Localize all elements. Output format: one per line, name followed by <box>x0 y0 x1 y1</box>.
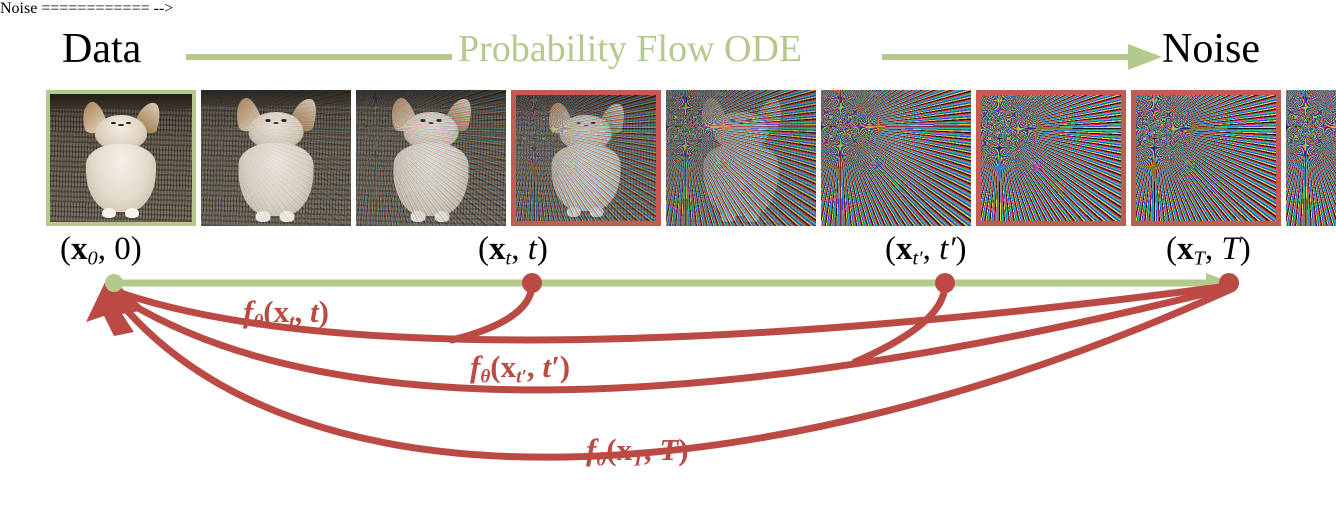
function-label-xt: fθ(xt, t) <box>243 296 329 332</box>
noise-title: Noise <box>1162 28 1260 70</box>
theta-subscript: θ <box>480 366 490 387</box>
frame-2[interactable] <box>201 90 351 226</box>
x-subscript: t′ <box>516 366 527 387</box>
paren-open: ( <box>885 231 896 267</box>
pair-label-xt: (xt, t) <box>478 233 548 269</box>
node-xt[interactable] <box>522 273 542 293</box>
frame-9 <box>1286 90 1336 226</box>
f-symbol: f <box>243 294 253 329</box>
paren-open: ( <box>1166 231 1177 267</box>
probability-flow-ode-label: Probability Flow ODE <box>458 30 802 68</box>
paren-close: ) <box>956 231 967 267</box>
frame-xtp[interactable] <box>976 90 1126 226</box>
frame-xt[interactable] <box>511 90 661 226</box>
comma: , <box>923 231 940 267</box>
frame-image <box>1136 95 1276 221</box>
x-symbol: x <box>71 231 88 267</box>
node-x0[interactable] <box>105 274 123 292</box>
comma: , <box>527 349 543 384</box>
comma: , <box>644 432 660 467</box>
curve-hook-xt <box>452 284 532 340</box>
function-label-xtp: fθ(xt′, t′) <box>470 351 570 387</box>
frame-x0[interactable] <box>46 90 196 226</box>
time-value: t <box>310 294 319 329</box>
paren-close: ) <box>131 231 142 267</box>
diffusion-filmstrip <box>46 90 1290 226</box>
data-title: Data <box>62 28 141 70</box>
frame-image <box>666 90 816 226</box>
paren-close: ) <box>560 349 570 384</box>
comma: , <box>294 294 310 329</box>
x-symbol: x <box>274 294 290 329</box>
pair-label-x0: (x0, 0) <box>60 233 142 269</box>
frame-3[interactable] <box>356 90 506 226</box>
paren-open: ( <box>606 432 616 467</box>
frame-image <box>516 95 656 221</box>
consistency-map-diagram <box>0 270 1336 506</box>
node-xtp[interactable] <box>935 273 955 293</box>
x-subscript: 0 <box>88 248 98 270</box>
paren-close: ) <box>537 231 548 267</box>
time-value: t′ <box>542 349 559 384</box>
comma: , <box>511 231 528 267</box>
x-symbol: x <box>896 231 913 267</box>
figure-canvas: Noise ============ --> Data Probability … <box>0 0 1336 506</box>
x-subscript: T <box>1194 248 1205 270</box>
paren-open: ( <box>263 294 273 329</box>
time-value: T <box>1221 231 1239 267</box>
comma: , <box>98 231 115 267</box>
frame-image <box>50 94 192 222</box>
time-value: 0 <box>114 231 131 267</box>
time-value: t <box>528 231 537 267</box>
frame-image <box>981 95 1121 221</box>
time-value: T <box>659 432 678 467</box>
theta-subscript: θ <box>253 311 263 332</box>
paren-open: ( <box>478 231 489 267</box>
frame-6[interactable] <box>821 90 971 226</box>
frame-xT[interactable] <box>1131 90 1281 226</box>
frame-image <box>201 90 351 226</box>
paren-open: ( <box>60 231 71 267</box>
x-subscript: T <box>632 449 644 470</box>
frame-image <box>821 90 971 226</box>
function-label-xT: fθ(xT, T) <box>586 434 689 470</box>
pair-label-xtp: (xt′, t′) <box>885 233 967 269</box>
x-symbol: x <box>501 349 517 384</box>
f-symbol: f <box>586 432 596 467</box>
time-value: t′ <box>939 231 955 267</box>
theta-subscript: θ <box>596 449 606 470</box>
frame-5[interactable] <box>666 90 816 226</box>
paren-close: ) <box>319 294 329 329</box>
frame-image <box>356 90 506 226</box>
x-symbol: x <box>617 432 633 467</box>
frame-image <box>1286 90 1336 226</box>
x-subscript: t′ <box>913 248 923 270</box>
paren-close: ) <box>1240 231 1251 267</box>
x-symbol: x <box>1177 231 1194 267</box>
pair-label-xT: (xT, T) <box>1166 233 1251 269</box>
flow-arrowhead-icon <box>1128 44 1162 70</box>
paren-close: ) <box>678 432 688 467</box>
comma: , <box>1205 231 1222 267</box>
f-symbol: f <box>470 349 480 384</box>
paren-open: ( <box>490 349 500 384</box>
node-xT[interactable] <box>1219 273 1239 293</box>
x-symbol: x <box>489 231 506 267</box>
